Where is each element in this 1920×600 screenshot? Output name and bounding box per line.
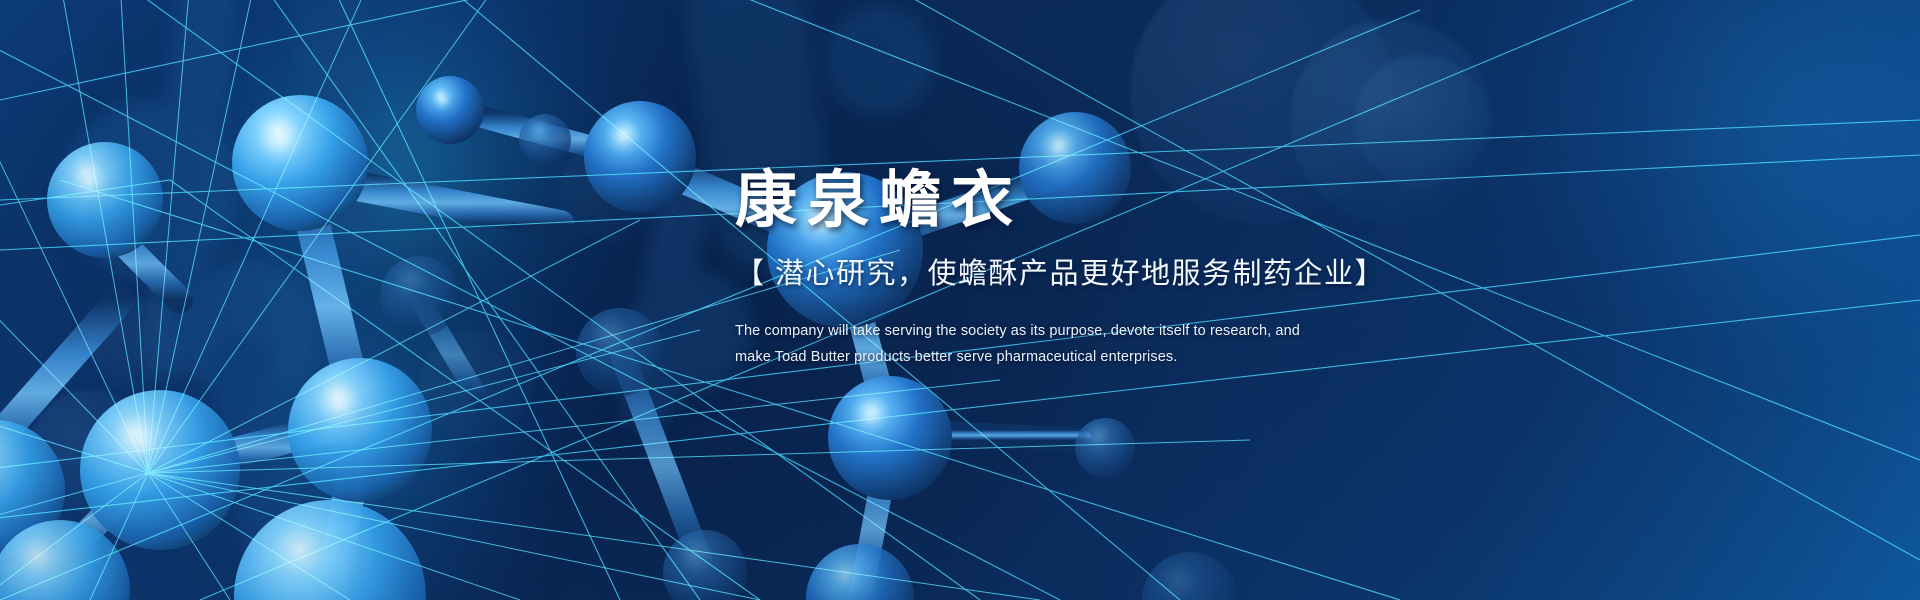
english-description: The company will take serving the societ… bbox=[735, 318, 1555, 370]
page-title: 康泉蟾衣 bbox=[735, 168, 1555, 235]
english-description-line-1: The company will take serving the societ… bbox=[735, 318, 1555, 344]
hero-banner: 康泉蟾衣 【 潜心研究，使蟾酥产品更好地服务制药企业】 The company … bbox=[0, 0, 1920, 600]
tagline: 【 潜心研究，使蟾酥产品更好地服务制药企业】 bbox=[735, 257, 1555, 292]
english-description-line-2: make Toad Butter products better serve p… bbox=[735, 344, 1555, 370]
hero-text-block: 康泉蟾衣 【 潜心研究，使蟾酥产品更好地服务制药企业】 The company … bbox=[735, 168, 1555, 370]
